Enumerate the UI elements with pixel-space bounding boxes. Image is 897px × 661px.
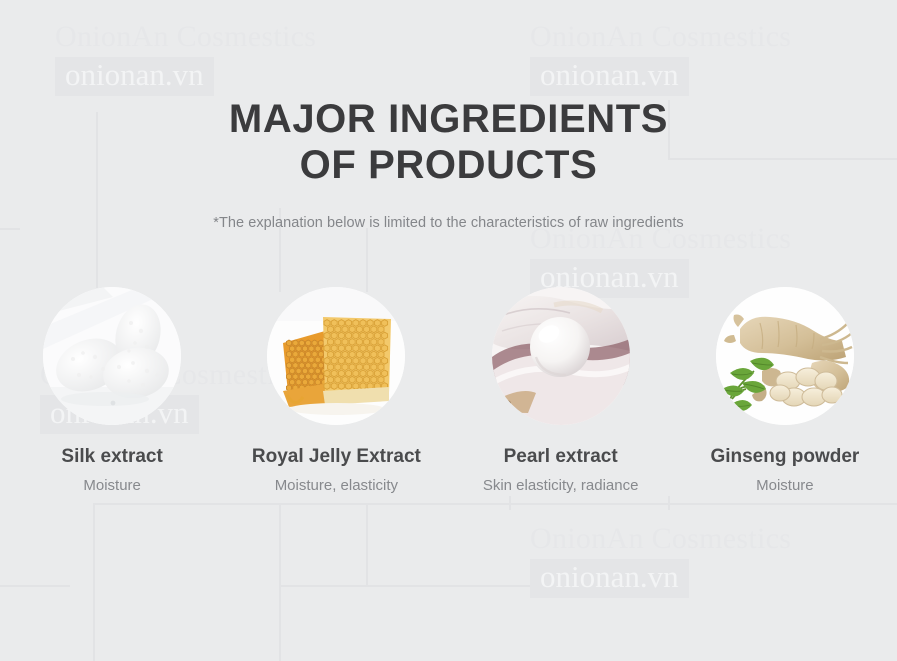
- watermark-url-box: onionan.vn: [530, 559, 689, 598]
- page-title-line1: MAJOR INGREDIENTS: [0, 96, 897, 142]
- gridline-horizontal-4: [0, 585, 70, 587]
- gridline-vertical-3: [366, 228, 368, 292]
- page-title-line2: OF PRODUCTS: [0, 142, 897, 188]
- watermark-top-right: OnionAn Cosmesticsonionan.vn: [530, 20, 791, 96]
- gridline-vertical-4: [93, 503, 95, 661]
- gridline-horizontal-3: [279, 585, 565, 587]
- watermark-url-text: onionan.vn: [540, 561, 679, 594]
- silk-cocoon-image: [43, 287, 181, 425]
- watermark-bottom-right: OnionAn Cosmesticsonionan.vn: [530, 522, 791, 598]
- ingredient-card-3: Pearl extractSkin elasticity, radiance: [449, 287, 673, 494]
- page-subtitle: *The explanation below is limited to the…: [0, 215, 897, 231]
- ingredient-name: Pearl extract: [504, 446, 618, 468]
- watermark-url-text: onionan.vn: [540, 59, 679, 92]
- honeycomb-image: [267, 287, 405, 425]
- page-header: MAJOR INGREDIENTS OF PRODUCTS *The expla…: [0, 96, 897, 231]
- ingredient-name: Royal Jelly Extract: [252, 446, 421, 468]
- ingredient-description: Skin elasticity, radiance: [483, 477, 639, 494]
- ingredient-name: Silk extract: [61, 446, 162, 468]
- ingredient-description: Moisture: [83, 477, 141, 494]
- ingredient-name: Ginseng powder: [710, 446, 859, 468]
- watermark-url-box: onionan.vn: [530, 57, 689, 96]
- watermark-top-left: OnionAn Cosmesticsonionan.vn: [55, 20, 316, 96]
- watermark-brand-text: OnionAn Cosmestics: [530, 522, 791, 555]
- ingredient-description: Moisture: [756, 477, 814, 494]
- watermark-brand-text: OnionAn Cosmestics: [530, 20, 791, 53]
- watermark-url-box: onionan.vn: [55, 57, 214, 96]
- ingredient-card-4: Ginseng powderMoisture: [673, 287, 897, 494]
- ingredient-card-1: Silk extractMoisture: [0, 287, 224, 494]
- gridline-vertical-6: [366, 503, 368, 585]
- gridline-vertical-5: [279, 503, 281, 661]
- ingredient-description: Moisture, elasticity: [275, 477, 398, 494]
- ingredient-card-2: Royal Jelly ExtractMoisture, elasticity: [224, 287, 448, 494]
- watermark-url-text: onionan.vn: [65, 59, 204, 92]
- pearl-oyster-image: [492, 287, 630, 425]
- watermark-brand-text: OnionAn Cosmestics: [55, 20, 316, 53]
- gridline-horizontal-2: [93, 503, 897, 505]
- ingredient-card-row: Silk extractMoistureRoyal Jelly ExtractM…: [0, 287, 897, 494]
- ginseng-root-image: [716, 287, 854, 425]
- ingredients-infographic: OnionAn Cosmesticsonionan.vnOnionAn Cosm…: [0, 0, 897, 661]
